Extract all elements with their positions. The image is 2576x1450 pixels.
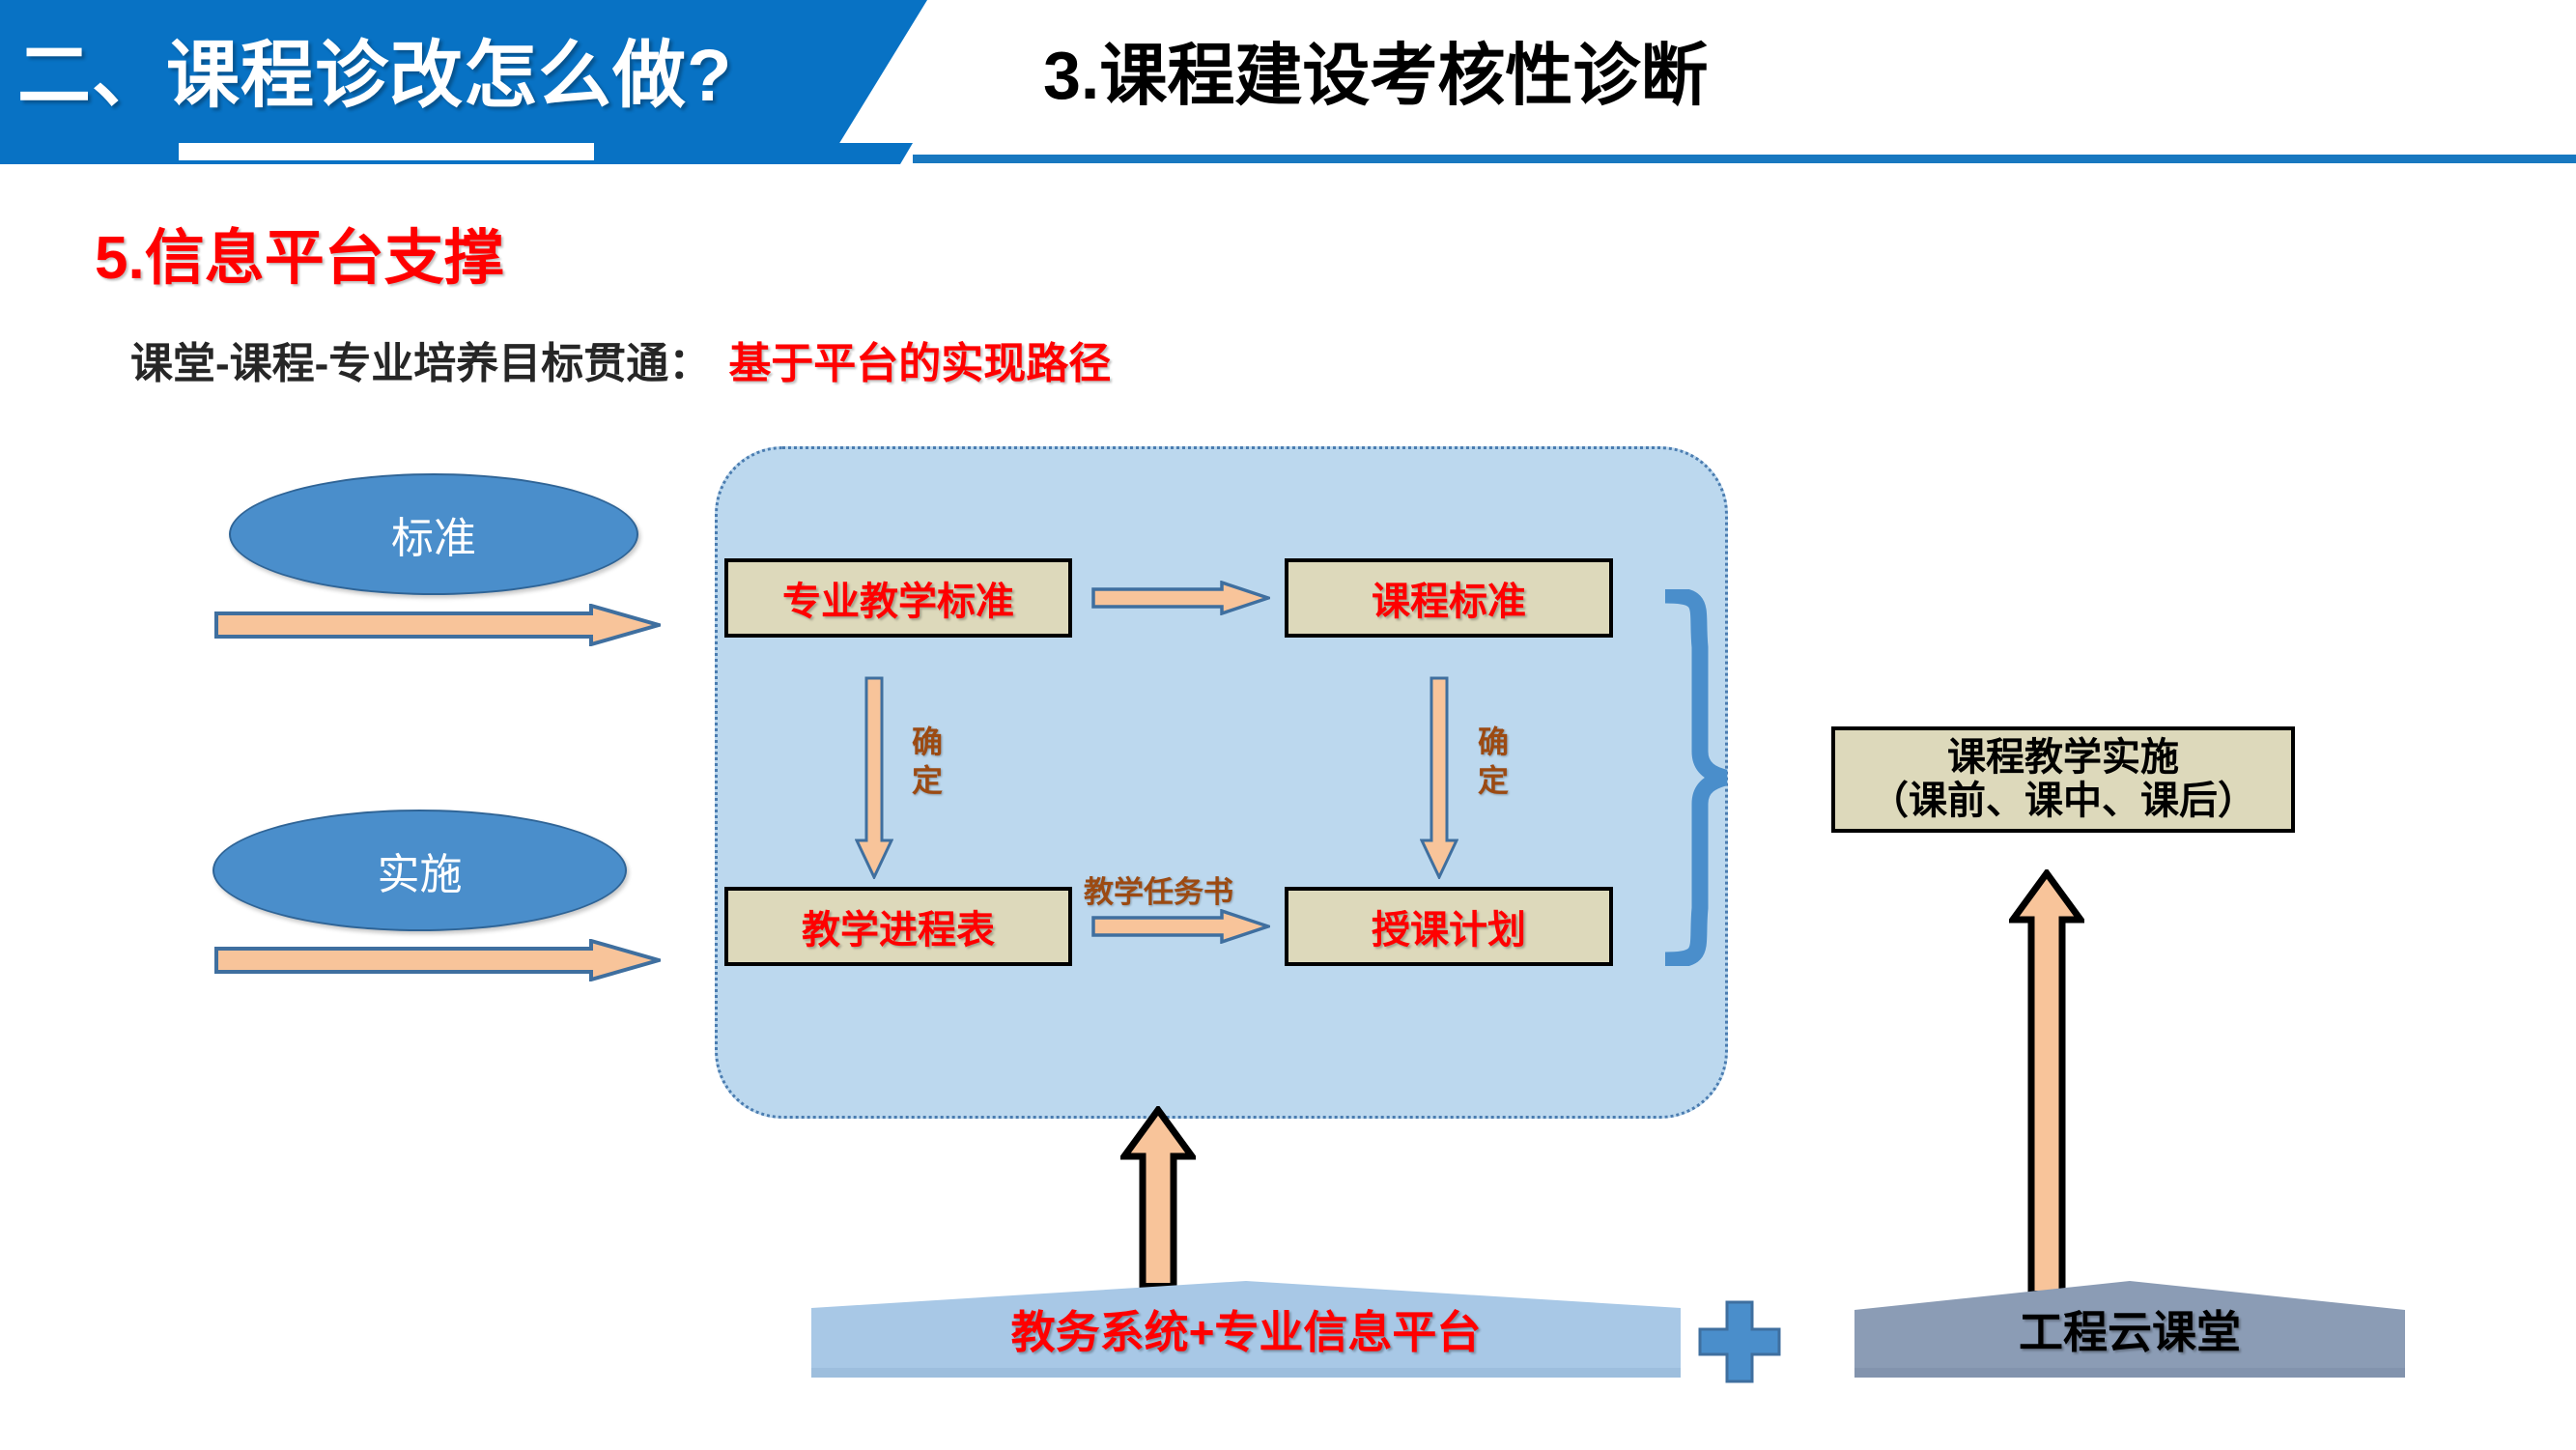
box-course-teaching-implementation[interactable]: 课程教学实施 （课前、课中、课后） (1831, 726, 2295, 833)
stage-ellipse-standard-label: 标准 (391, 503, 476, 565)
box-lesson-plan[interactable]: 授课计划 (1285, 887, 1613, 966)
label-confirm-left: 确定 (908, 723, 947, 800)
stage-ellipse-standard[interactable]: 标准 (229, 473, 638, 595)
banner-academic-affairs-platform-label: 教务系统+专业信息平台 (1011, 1297, 1482, 1361)
arrow-major-std-to-course-std-icon (1091, 581, 1270, 615)
header-right-title: 3.课程建设考核性诊断 (1043, 21, 1708, 119)
slide-canvas: 二、课程诊改怎么做? 3.课程建设考核性诊断 5.信息平台支撑 课堂-课程-专业… (0, 0, 2576, 1450)
header-band-notch (179, 143, 594, 160)
page-title: 5.信息平台支撑 (95, 209, 504, 296)
arrow-up-platform-to-group-icon (1120, 1106, 1196, 1299)
box-major-teaching-standard-label: 专业教学标准 (782, 570, 1014, 626)
subtitle-plain-text: 课堂-课程-专业培养目标贯通： (130, 340, 711, 387)
box-implementation-line2: （课前、课中、课后） (1870, 780, 2256, 823)
arrow-up-cloud-to-implementation-icon (2009, 869, 2084, 1304)
arrow-schedule-to-lesson-plan-icon (1091, 909, 1270, 944)
header-left-title: 二、课程诊改怎么做? (17, 15, 819, 122)
arrow-down-course-std-to-lesson-plan-icon (1420, 676, 1458, 879)
subtitle-line: 课堂-课程-专业培养目标贯通：基于平台的实现路径 (130, 328, 1111, 390)
right-brace-icon (1657, 589, 1764, 966)
box-lesson-plan-label: 授课计划 (1372, 898, 1526, 954)
banner-engineering-cloud-classroom[interactable]: 工程云课堂 (1854, 1281, 2405, 1378)
box-teaching-schedule-label: 教学进程表 (802, 898, 995, 954)
standard-flow-arrow-icon (214, 604, 661, 646)
label-teaching-task-book: 教学任务书 (1084, 867, 1233, 911)
implement-flow-arrow-icon (214, 939, 661, 981)
stage-ellipse-implementation-label: 实施 (378, 839, 463, 901)
box-teaching-schedule[interactable]: 教学进程表 (724, 887, 1072, 966)
banner-engineering-cloud-classroom-label: 工程云课堂 (2019, 1297, 2241, 1361)
header-horizontal-rule (913, 155, 2576, 163)
box-course-standard[interactable]: 课程标准 (1285, 558, 1613, 638)
box-major-teaching-standard[interactable]: 专业教学标准 (724, 558, 1072, 638)
label-confirm-right: 确定 (1474, 723, 1513, 800)
plus-icon (1695, 1298, 1784, 1387)
subtitle-highlight-text: 基于平台的实现路径 (728, 340, 1111, 387)
stage-ellipse-implementation[interactable]: 实施 (212, 810, 627, 931)
box-implementation-line1: 课程教学实施 (1947, 736, 2179, 780)
box-course-standard-label: 课程标准 (1372, 570, 1526, 626)
arrow-down-major-std-to-schedule-icon (855, 676, 893, 879)
banner-academic-affairs-platform[interactable]: 教务系统+专业信息平台 (811, 1281, 1681, 1378)
